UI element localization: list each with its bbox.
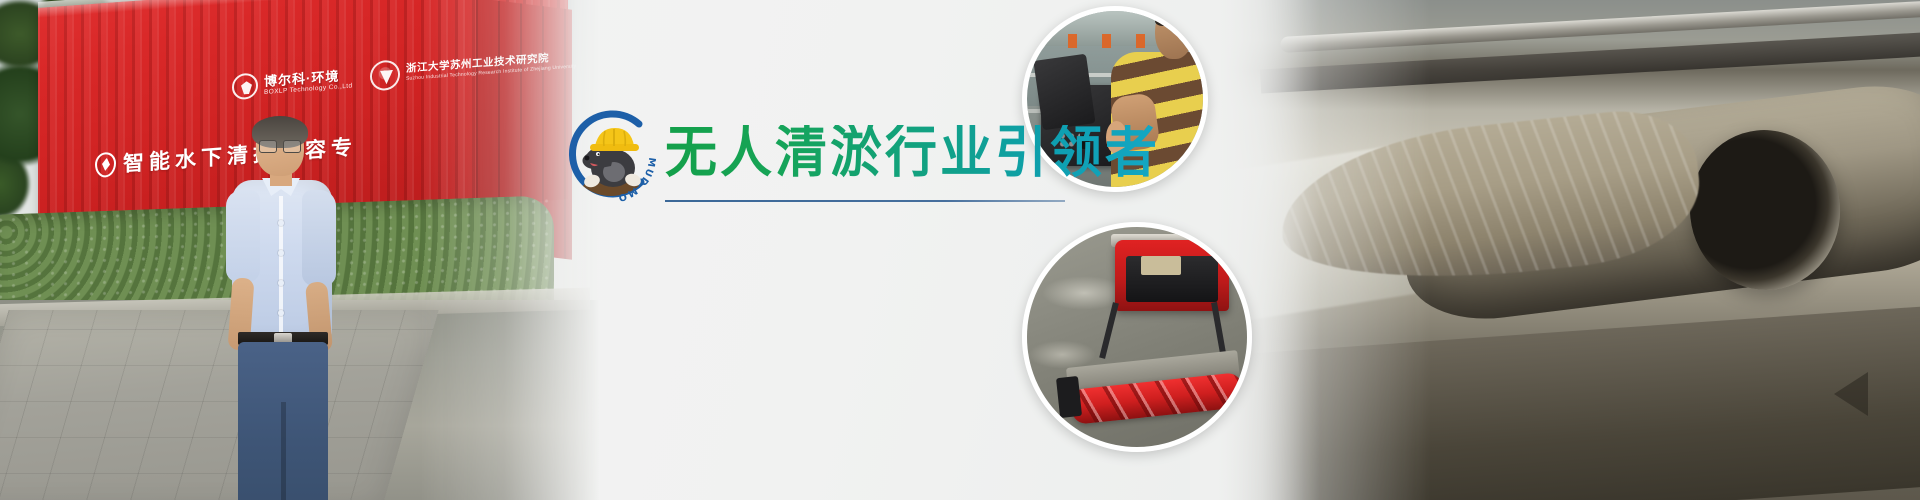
logo-mole-nose (585, 156, 590, 161)
robot-red-body (1115, 240, 1229, 310)
person-sleeve-right (302, 190, 336, 286)
sludge-pipe-scene (1220, 0, 1920, 500)
person-shirt-button (278, 220, 284, 226)
pipe-ground-shadow (1215, 304, 1920, 500)
person-sleeve-left (226, 190, 260, 282)
paved-path (0, 310, 439, 500)
person-shirt-button (278, 250, 284, 256)
headline-divider (665, 200, 1065, 202)
slogan-badge-icon (95, 151, 116, 178)
path-tile-lines (0, 310, 439, 500)
boxlp-mark-icon (232, 72, 258, 100)
mud-mole-logo-svg: MUD MOLE (557, 102, 665, 206)
center-content: MUD MOLE 无人清淤行业引领者 (540, 0, 1080, 500)
direction-arrow-icon (1834, 372, 1868, 416)
right-photo (1190, 0, 1920, 500)
operator-hair (1155, 6, 1193, 26)
mud-mole-logo: MUD MOLE (557, 102, 665, 206)
person-shirt-button (278, 280, 284, 286)
logo-mole-pupil (598, 153, 600, 155)
person-shirt-button (278, 310, 284, 316)
person-trousers (238, 342, 328, 500)
institute-mark-icon (370, 59, 400, 91)
person-glasses (259, 140, 301, 151)
person-standing (222, 120, 342, 500)
hero-banner: 博尔科·环境 BOXLP Technology Co.,Ltd 浙江大学苏州工业… (0, 0, 1920, 500)
left-photo: 博尔科·环境 BOXLP Technology Co.,Ltd 浙江大学苏州工业… (0, 0, 600, 500)
robot-panel (1141, 256, 1181, 276)
headline-text: 无人清淤行业引领者 (665, 125, 1160, 181)
